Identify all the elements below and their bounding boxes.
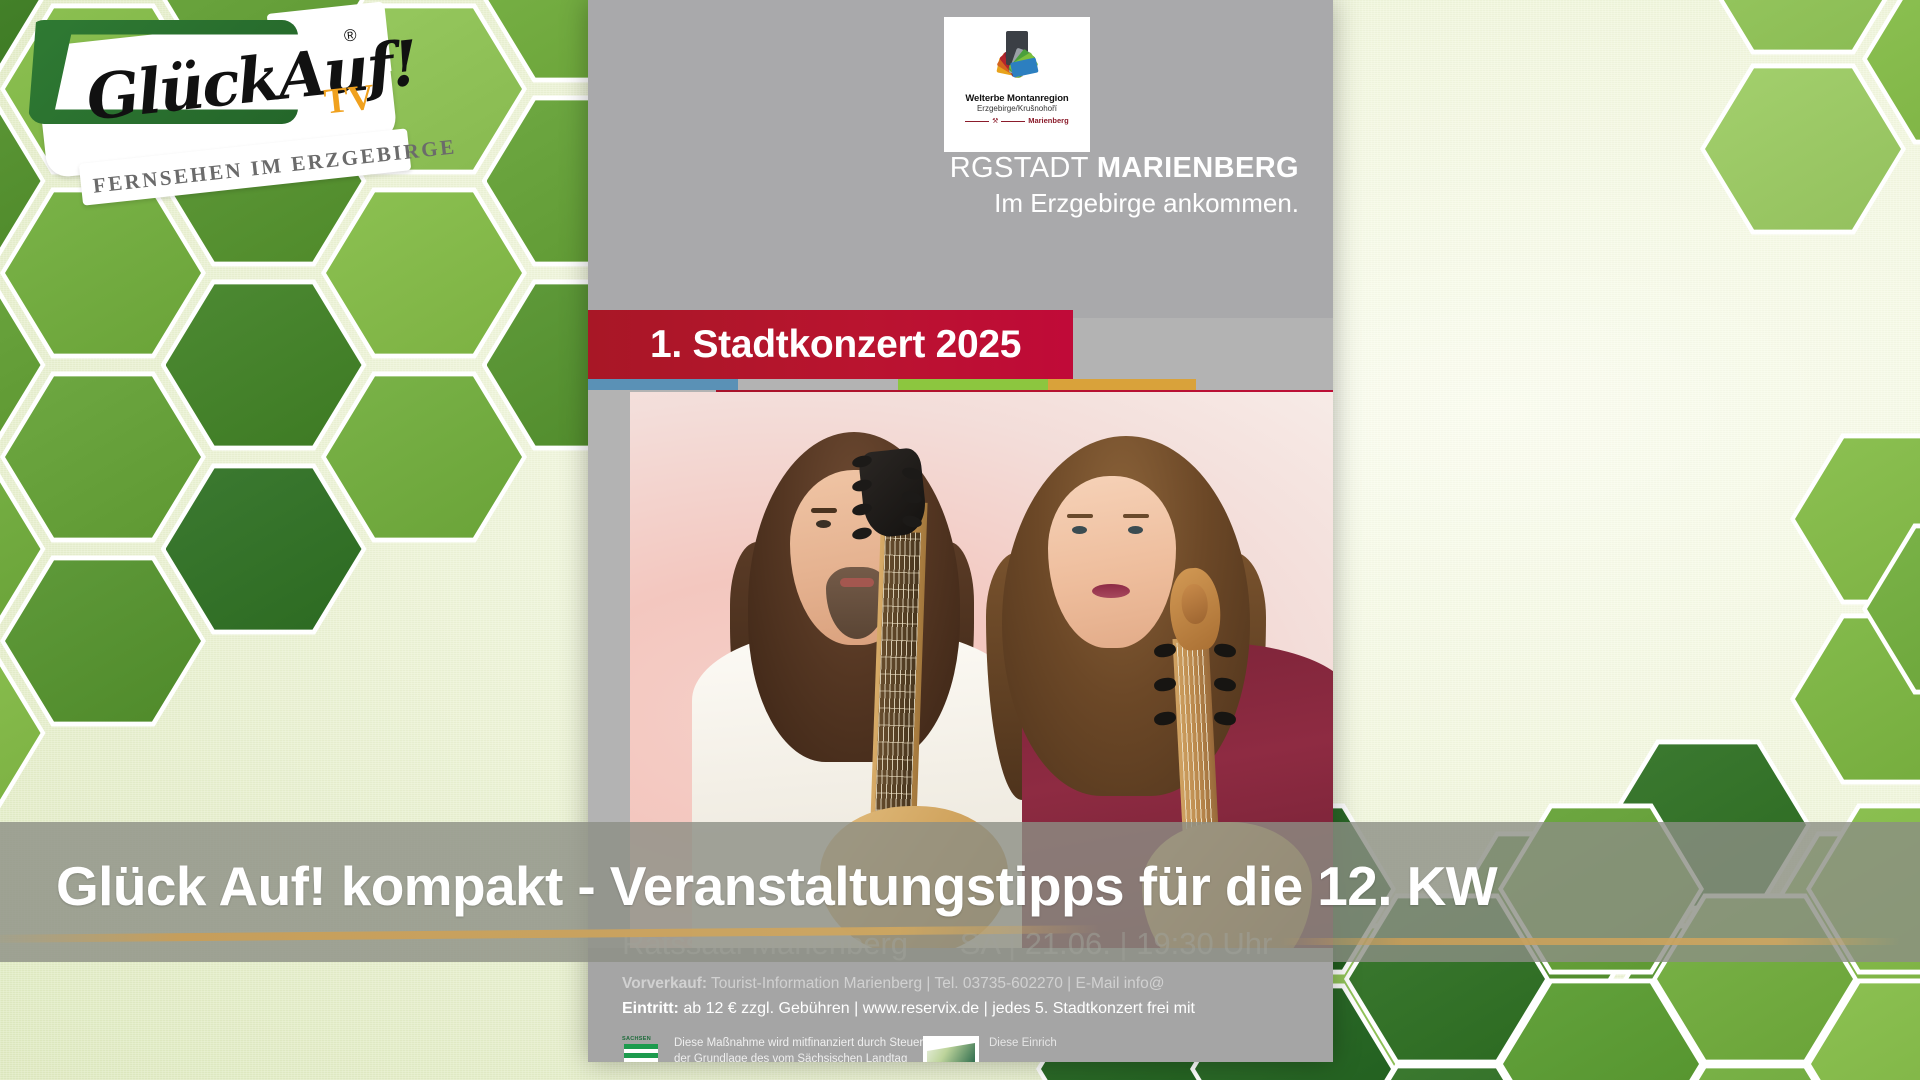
poster-title-band: 1. Stadtkonzert 2025 [588, 310, 1073, 379]
glueckauf-tv-logo: GlückAuf! ® TV FERNSEHEN IM ERZGEBIRGE [14, 6, 416, 196]
welterbe-logo: Welterbe Montanregion Erzgebirge/Krušnoh… [944, 17, 1090, 152]
hexagon-tile [0, 368, 206, 546]
poster-presale-text: Tourist-Information Marienberg | Tel. 03… [707, 975, 1164, 992]
poster-entry-text: ab 12 € zzgl. Gebühren | www.reservix.de… [679, 1000, 1195, 1017]
saxony-coat-of-arms-icon: SACHSEN [622, 1036, 662, 1062]
woman-right-brow [1123, 514, 1149, 518]
poster-header-plain: RGSTADT [950, 152, 1097, 184]
poster-presale-label: Vorverkauf: [622, 975, 707, 992]
poster-color-stripes [588, 379, 1196, 390]
poster-entry-label: Eintritt: [622, 1000, 679, 1017]
hexagon-tile [0, 184, 206, 362]
poster-header-bold: MARIENBERG [1097, 152, 1299, 184]
man-mouth [840, 578, 874, 587]
saxony-label: SACHSEN [622, 1036, 662, 1042]
woman-left-eye [1072, 526, 1087, 534]
stripe-3 [1048, 379, 1196, 390]
woman-left-brow [1067, 514, 1093, 518]
stripe-0 [588, 379, 738, 390]
poster-city-header: RGSTADT MARIENBERG Im Erzgebirge ankomme… [950, 152, 1299, 218]
crossed-hammers-icon: ⚒ [992, 118, 998, 126]
hexagon-tile [161, 460, 367, 638]
poster-presale-line: Vorverkauf: Tourist-Information Marienbe… [622, 975, 1164, 993]
welterbe-text: Welterbe Montanregion Erzgebirge/Krušnoh… [965, 94, 1068, 125]
stripe-2 [898, 379, 1048, 390]
hexagon-tile [321, 184, 527, 362]
poster-funding-block-2: Diese Einrich [923, 1036, 1057, 1062]
poster-header-subline: Im Erzgebirge ankommen. [950, 188, 1299, 218]
screenshot-root: RGSTADT MARIENBERG Im Erzgebirge ankomme… [0, 0, 1920, 1080]
welterbe-rule: ⚒ Marienberg [965, 117, 1068, 125]
welterbe-name-line1: Welterbe Montanregion [965, 94, 1068, 104]
hexagon-tile [1700, 60, 1906, 238]
welterbe-city: Marienberg [1028, 117, 1068, 125]
woman-mouth [1092, 584, 1130, 598]
poster-title: 1. Stadtkonzert 2025 [650, 323, 1021, 367]
man-left-eye [816, 520, 831, 528]
hexagon-tile [161, 276, 367, 454]
hexagon-tile [0, 552, 206, 730]
logo-tv-suffix: TV [322, 75, 376, 122]
man-left-brow [811, 508, 837, 513]
banner-gold-line [0, 925, 1100, 943]
woman-right-eye [1128, 526, 1143, 534]
poster-funding-note-2: Diese Einrich [989, 1036, 1057, 1052]
banner-title: Glück Auf! kompakt - Veranstaltungstipps… [56, 854, 1497, 918]
hexagon-tile [321, 368, 527, 546]
poster-info-band: Ratssaal Marienberg SA | 21.06. | 19:30 … [588, 948, 1333, 1062]
registered-trademark-icon: ® [343, 25, 358, 46]
secondary-sponsor-logo [923, 1036, 979, 1062]
poster-entry-line: Eintritt: ab 12 € zzgl. Gebühren | www.r… [622, 1000, 1195, 1018]
banner-gold-line-right [1280, 938, 1900, 945]
stripe-1 [738, 379, 898, 390]
welterbe-name-line2: Erzgebirge/Krušnohoří [965, 105, 1068, 114]
lower-title-banner: Glück Auf! kompakt - Veranstaltungstipps… [0, 822, 1920, 962]
welterbe-fan-icon [969, 27, 1065, 89]
